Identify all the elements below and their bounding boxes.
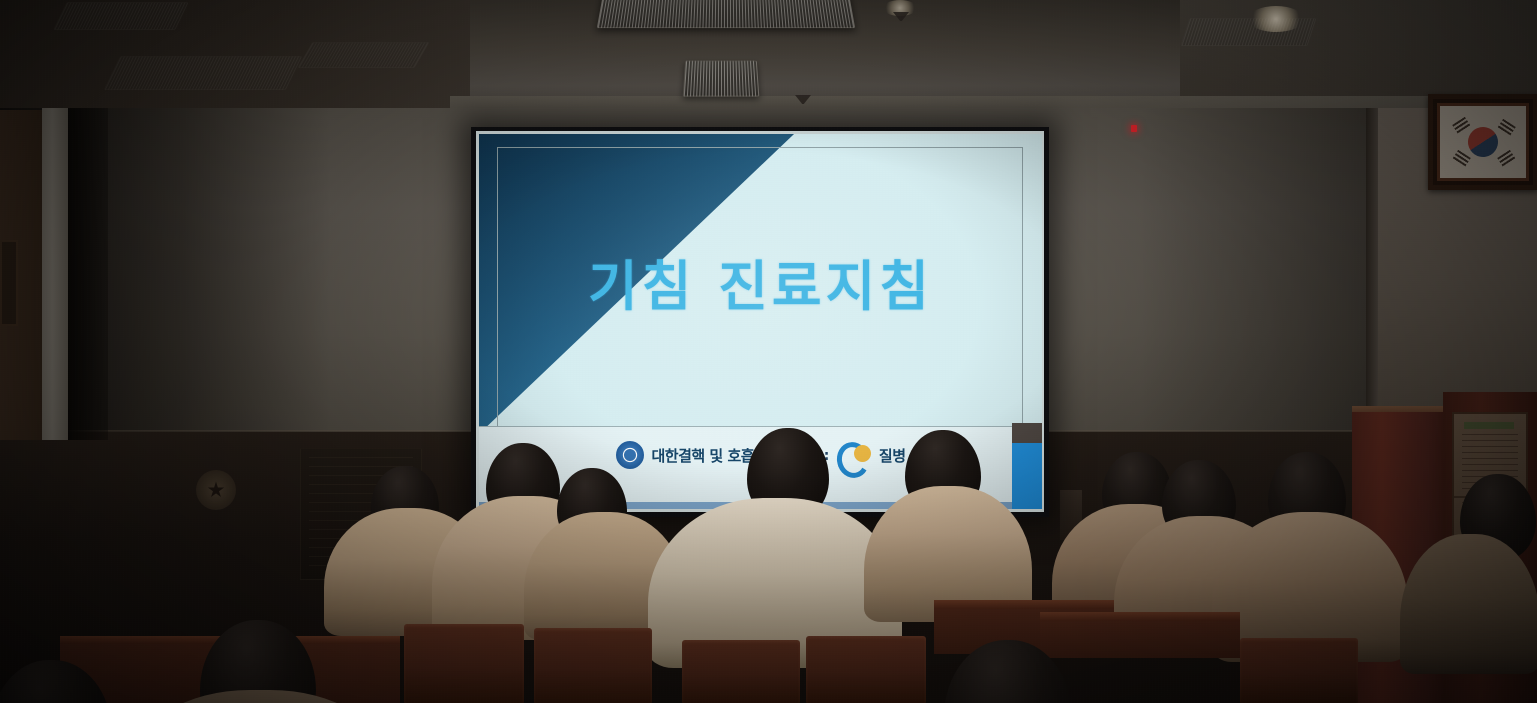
air-vent-icon bbox=[597, 0, 855, 28]
chair bbox=[806, 636, 926, 703]
air-vent-icon bbox=[104, 56, 303, 90]
kcdc-dot-shape bbox=[854, 445, 871, 462]
trigram-icon bbox=[1452, 150, 1471, 167]
desk-row bbox=[1040, 618, 1240, 658]
air-vent-small-icon bbox=[683, 61, 760, 97]
wall-frame-left bbox=[0, 240, 18, 326]
trigram-icon bbox=[1497, 119, 1516, 136]
trigram-icon bbox=[1452, 117, 1471, 134]
ceiling-downlight-icon bbox=[1248, 6, 1304, 32]
notice-heading-bar bbox=[1464, 422, 1514, 429]
kcdc-logo-icon bbox=[837, 442, 871, 468]
lecture-hall-photo: 기침 진료지침 대한결핵 및 호흡기학 후원 : 질병 bbox=[0, 0, 1537, 703]
slide-title: 기침 진료지침 bbox=[479, 242, 1042, 321]
chair bbox=[404, 624, 524, 703]
ceiling-right-band bbox=[1180, 0, 1537, 104]
air-vent-icon bbox=[297, 42, 429, 68]
desk-edge bbox=[934, 600, 1114, 609]
taegukgi-flag-frame bbox=[1428, 94, 1537, 190]
desk-edge bbox=[1040, 612, 1240, 621]
wall-emblem-icon bbox=[196, 470, 236, 510]
society-seal-icon bbox=[616, 441, 644, 469]
slide-footer-sponsor: 질병 bbox=[879, 445, 906, 466]
slide-grey-block bbox=[1012, 423, 1042, 443]
red-indicator-led-icon bbox=[1131, 125, 1137, 132]
air-vent-icon bbox=[53, 2, 189, 30]
chair bbox=[1240, 638, 1358, 703]
slide-blue-block bbox=[1012, 443, 1042, 509]
pillar-left-strip bbox=[42, 108, 68, 440]
taegukgi-flag bbox=[1437, 103, 1529, 181]
chair bbox=[682, 640, 800, 703]
pillar-left-shadow bbox=[68, 108, 108, 440]
chair bbox=[534, 628, 652, 703]
trigram-icon bbox=[1497, 150, 1516, 167]
